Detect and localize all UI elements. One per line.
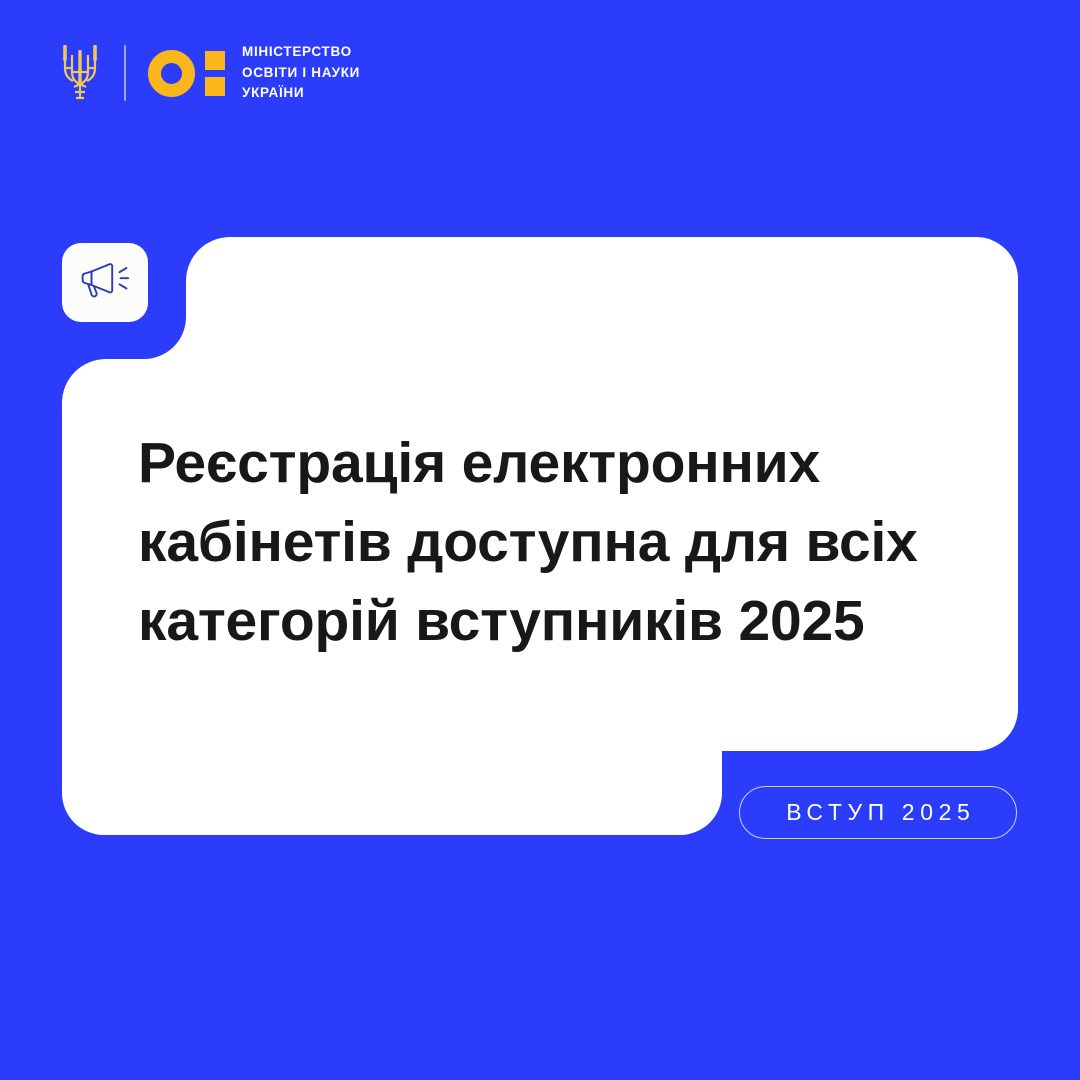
megaphone-icon-box <box>62 243 148 322</box>
ministry-name-line-3: УКРАЇНИ <box>242 84 360 102</box>
mark-square-bottom <box>205 77 225 96</box>
megaphone-icon <box>78 260 132 306</box>
mark-ring-shape <box>148 50 195 97</box>
mark-square-top <box>205 51 225 70</box>
campaign-badge: ВСТУП 2025 <box>739 786 1017 839</box>
ministry-name-line-1: МІНІСТЕРСТВО <box>242 43 360 61</box>
card-notch-cover <box>678 707 722 751</box>
campaign-badge-label: ВСТУП 2025 <box>781 799 976 826</box>
ministry-name: МІНІСТЕРСТВО ОСВІТИ І НАУКИ УКРАЇНИ <box>242 43 360 102</box>
ministry-name-line-2: ОСВІТИ І НАУКИ <box>242 64 360 82</box>
ministry-logo-bar: МІНІСТЕРСТВО ОСВІТИ І НАУКИ УКРАЇНИ <box>60 42 360 104</box>
headline: Реєстрація електронних кабінетів доступн… <box>138 424 958 661</box>
headline-line-3: категорій вступників 2025 <box>138 582 958 661</box>
logo-divider <box>124 45 126 101</box>
poster-canvas: МІНІСТЕРСТВО ОСВІТИ І НАУКИ УКРАЇНИ <box>0 0 1080 1080</box>
card-lower-body <box>62 675 722 835</box>
mark-squares-shape <box>205 51 225 96</box>
ukraine-trident-icon <box>60 42 100 104</box>
headline-line-2: кабінетів доступна для всіх <box>138 503 958 582</box>
mon-o-mark-icon <box>148 50 225 97</box>
headline-line-1: Реєстрація електронних <box>138 424 958 503</box>
